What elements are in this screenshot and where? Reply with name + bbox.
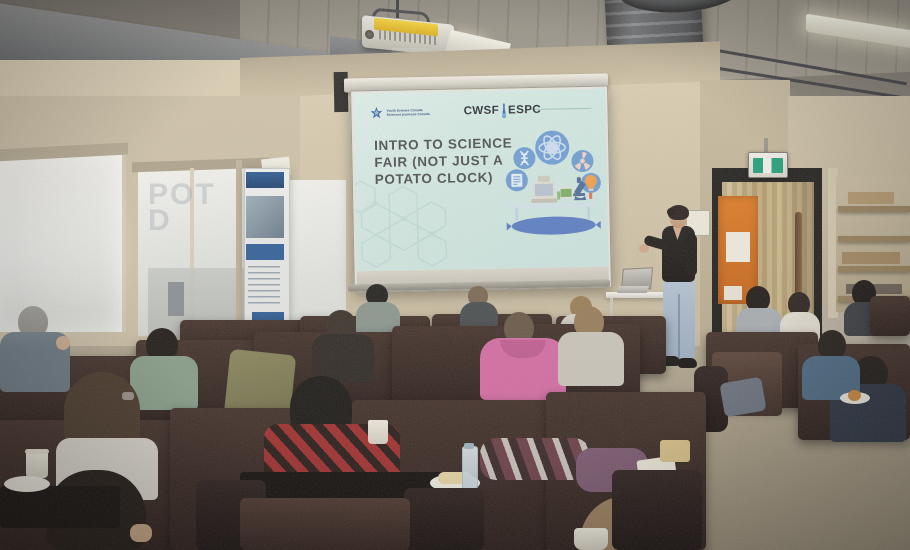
slide-title-line-2: FAIR (NOT JUST A bbox=[374, 151, 524, 171]
armrest-front-2 bbox=[404, 488, 484, 550]
building-window bbox=[168, 282, 184, 316]
ysc-logo-text: Youth Science Canada Sciences jeunesse C… bbox=[386, 108, 429, 117]
hand bbox=[56, 336, 70, 350]
wall-post bbox=[236, 160, 242, 344]
presenter-hand-left bbox=[639, 244, 649, 253]
window-left bbox=[0, 152, 126, 332]
coffee-cup bbox=[26, 452, 48, 478]
exit-sign-graphic bbox=[753, 158, 783, 173]
projection-screen: Youth Science Canada Sciences jeunesse C… bbox=[350, 86, 612, 293]
presenter-arm-right bbox=[687, 234, 697, 276]
presenter-hair-bun bbox=[667, 208, 675, 216]
presentation-slide: Youth Science Canada Sciences jeunesse C… bbox=[353, 89, 608, 272]
youth-science-canada-logo: Youth Science Canada Sciences jeunesse C… bbox=[369, 105, 429, 120]
science-illustration bbox=[504, 125, 602, 239]
banner-photo bbox=[246, 196, 284, 238]
sofa-far-corner bbox=[870, 296, 910, 336]
food-plate bbox=[4, 476, 50, 492]
door-push-bar bbox=[795, 212, 802, 298]
glasses-icon bbox=[122, 392, 134, 400]
cwsf-espc-logo: CWSF ESPC bbox=[464, 102, 542, 118]
presenter-shoe-right bbox=[678, 358, 697, 368]
shelf-item-2 bbox=[842, 252, 900, 264]
cwsf-label: CWSF bbox=[464, 105, 500, 118]
bottle-cap bbox=[464, 443, 474, 449]
snack-bag bbox=[660, 440, 690, 462]
presenter-leg-seam bbox=[678, 294, 680, 360]
draped-jacket bbox=[719, 377, 766, 418]
backpack bbox=[480, 438, 590, 480]
window-decal-text: POTD bbox=[148, 182, 216, 234]
coffee-cup bbox=[574, 528, 608, 550]
slide-title-line-3: POTATO CLOCK) bbox=[375, 168, 525, 188]
notice-paper bbox=[726, 232, 750, 262]
base-ellipse bbox=[512, 216, 596, 236]
armrest-front-3 bbox=[612, 470, 702, 550]
slide-title: INTRO TO SCIENCE FAIR (NOT JUST A POTATO… bbox=[374, 134, 525, 188]
side-table-left bbox=[0, 486, 120, 528]
lab-bench-icon bbox=[509, 203, 597, 209]
body bbox=[558, 332, 624, 386]
lecture-room-photo: POTD bbox=[0, 0, 910, 550]
hand bbox=[130, 524, 152, 542]
shelf-board-1 bbox=[838, 206, 910, 212]
shelf-board-3 bbox=[838, 266, 910, 272]
shelf-item-1 bbox=[848, 192, 894, 204]
notice-paper-2 bbox=[724, 286, 742, 300]
exit-sign-mount bbox=[764, 138, 768, 153]
star-icon bbox=[369, 106, 383, 120]
banner-blue-bar bbox=[246, 244, 284, 260]
body bbox=[312, 334, 374, 382]
window-right bbox=[282, 180, 346, 320]
espc-label: ESPC bbox=[508, 104, 541, 117]
exit-sign-icon bbox=[748, 152, 788, 178]
test-tube-icon bbox=[589, 193, 592, 199]
seat-cushion bbox=[240, 498, 410, 550]
banner-text-lines bbox=[248, 266, 280, 306]
beaker-icon bbox=[557, 191, 560, 199]
shelf-board-2 bbox=[838, 236, 910, 242]
banner-header bbox=[246, 172, 284, 188]
projector-lens-icon bbox=[365, 30, 374, 40]
slide-logo-row: Youth Science Canada Sciences jeunesse C… bbox=[369, 98, 587, 124]
flask-icon bbox=[501, 103, 506, 118]
water-bottle bbox=[462, 446, 478, 490]
food-item bbox=[848, 390, 861, 401]
cup-lid bbox=[25, 449, 49, 454]
laptop-base bbox=[617, 286, 649, 293]
body bbox=[130, 356, 198, 410]
coffee-cup bbox=[368, 420, 388, 444]
